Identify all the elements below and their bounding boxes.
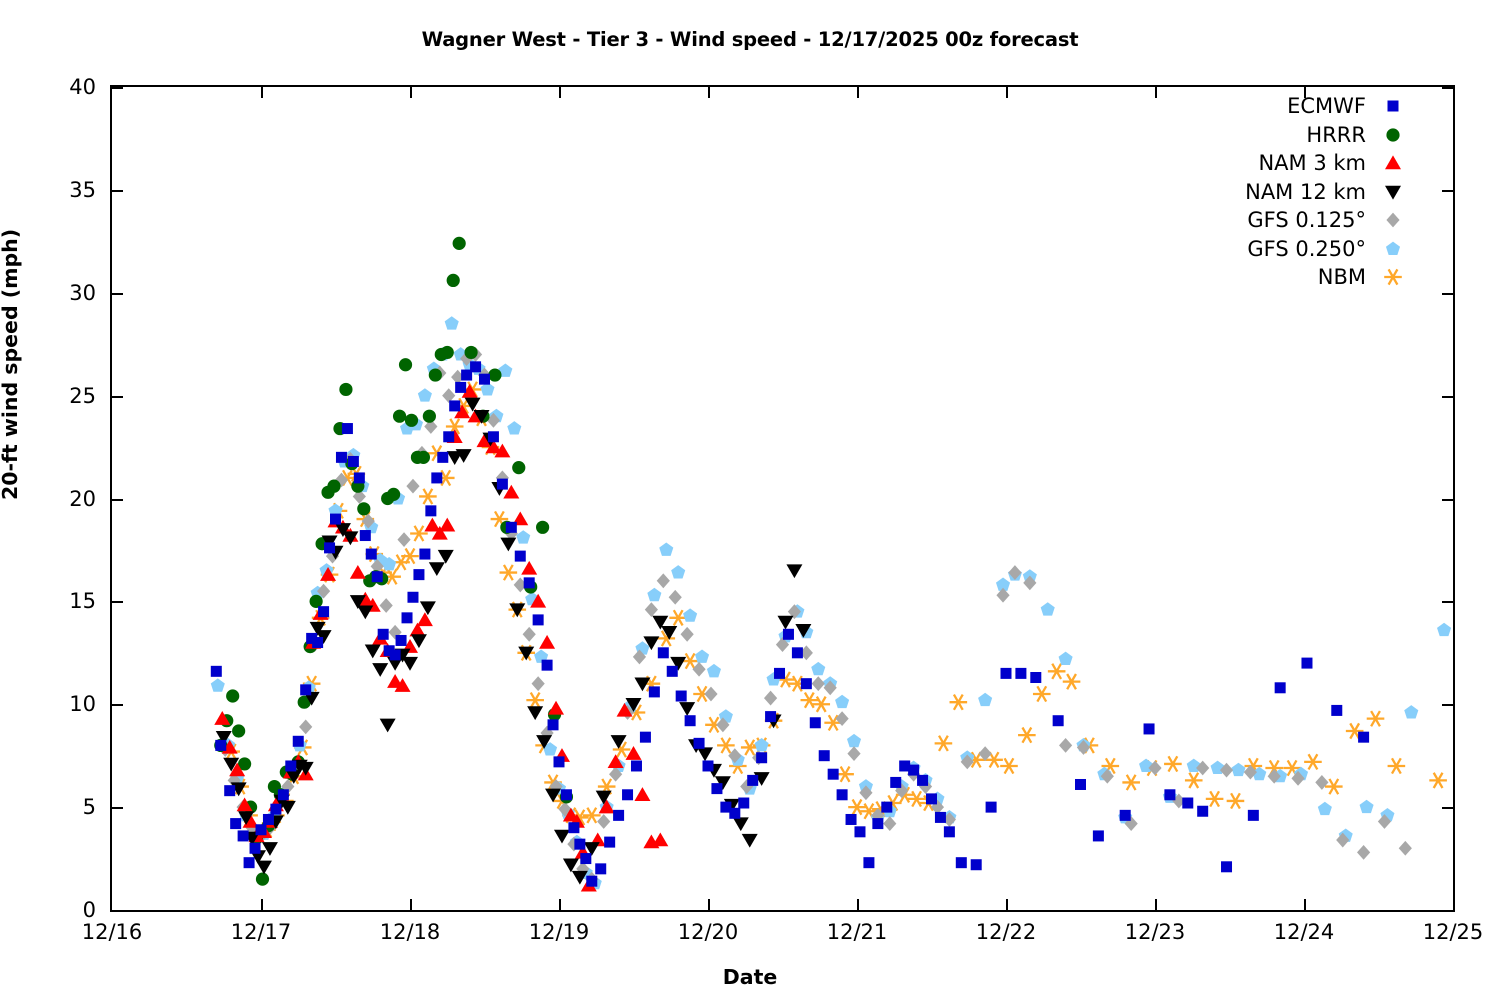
legend-marker-pentagon-icon [1376, 236, 1410, 262]
x-axis-title: Date [0, 965, 1500, 989]
legend-marker-triangle-up-icon [1376, 150, 1410, 176]
data-point [848, 800, 866, 815]
data-point [1122, 775, 1140, 790]
data-point [378, 629, 389, 640]
data-point [419, 549, 430, 560]
data-point [765, 711, 776, 722]
data-point [1388, 758, 1406, 773]
data-point [667, 666, 678, 677]
data-point [256, 873, 269, 886]
x-axis-tick-label: 12/23 [1125, 920, 1186, 944]
data-point [226, 689, 239, 702]
y-axis-tick-label: 5 [26, 795, 96, 819]
data-point [774, 668, 785, 679]
data-point [711, 783, 722, 794]
data-point [324, 542, 335, 553]
y-axis-tick-right [1442, 293, 1453, 295]
data-point [1018, 727, 1036, 742]
data-point [828, 769, 839, 780]
data-point [819, 750, 830, 761]
data-point [542, 660, 553, 671]
data-point [548, 719, 559, 730]
data-point [336, 452, 347, 463]
data-point [479, 374, 490, 385]
data-point [679, 702, 695, 716]
y-axis-tick-label: 40 [26, 75, 96, 99]
data-point [1325, 779, 1343, 794]
data-point [1429, 773, 1447, 788]
data-point [285, 760, 296, 771]
data-point [561, 789, 572, 800]
data-point [926, 793, 937, 804]
data-point [703, 760, 714, 771]
data-point [372, 571, 383, 582]
y-axis-tick [112, 807, 123, 809]
data-point [1275, 682, 1286, 693]
data-point [671, 565, 685, 578]
data-point [837, 789, 848, 800]
data-point [396, 635, 407, 646]
data-point [507, 421, 521, 434]
chart-legend: ECMWFHRRRNAM 3 kmNAM 12 kmGFS 0.125°GFS … [1170, 92, 1410, 292]
data-point [935, 812, 946, 823]
data-point [595, 863, 606, 874]
data-point [640, 732, 651, 743]
legend-marker-triangle-down-icon [1376, 179, 1410, 205]
data-point [647, 588, 661, 601]
data-point [256, 824, 267, 835]
data-point [717, 738, 735, 753]
data-point [342, 423, 353, 434]
data-point [1318, 802, 1332, 815]
data-point [676, 691, 687, 702]
data-point [733, 817, 749, 831]
data-point [327, 480, 340, 493]
data-point [1053, 715, 1064, 726]
data-point [357, 502, 370, 515]
data-point [604, 837, 615, 848]
data-point [417, 451, 430, 464]
data-point [956, 857, 967, 868]
x-axis-tick-top [261, 87, 263, 98]
data-point [742, 834, 758, 848]
data-point [908, 791, 926, 806]
data-point [683, 608, 697, 621]
y-axis-tick-right [1442, 704, 1453, 706]
data-point [580, 853, 591, 864]
data-point [1197, 806, 1208, 817]
data-point [516, 530, 530, 543]
y-axis-tick-label: 20 [26, 487, 96, 511]
legend-item-nam-3-km[interactable]: NAM 3 km [1170, 149, 1410, 178]
data-point [437, 452, 448, 463]
y-axis-tick-label: 25 [26, 384, 96, 408]
x-axis-tick-top [857, 87, 859, 98]
x-axis-tick-top [1155, 87, 1157, 98]
data-point [390, 649, 401, 660]
data-point [521, 561, 537, 575]
data-point [634, 787, 650, 801]
data-point [1120, 810, 1131, 821]
data-point [695, 650, 709, 663]
y-axis-tick-right [1442, 190, 1453, 192]
data-point [738, 798, 749, 809]
data-point [669, 610, 687, 625]
data-point [523, 627, 536, 642]
y-axis-tick-right [1442, 807, 1453, 809]
data-point [1059, 652, 1073, 665]
data-point [554, 830, 570, 844]
data-point [262, 842, 278, 856]
data-point [300, 684, 311, 695]
data-point [1182, 798, 1193, 809]
data-point [533, 614, 544, 625]
legend-item-ecmwf[interactable]: ECMWF [1170, 92, 1410, 121]
data-point [1063, 674, 1081, 689]
data-point [1030, 672, 1041, 683]
data-point [350, 565, 366, 579]
data-point [1360, 800, 1374, 813]
data-point [681, 627, 694, 642]
y-axis-title: 20-ft wind speed (mph) [0, 229, 22, 500]
data-point [613, 810, 624, 821]
legend-label: HRRR [1306, 123, 1376, 147]
y-axis-tick [112, 190, 123, 192]
data-point [741, 740, 759, 755]
y-axis-tick-right [1442, 601, 1453, 603]
legend-item-hrrr[interactable]: HRRR [1170, 121, 1410, 150]
x-axis-tick-top [1006, 87, 1008, 98]
data-point [512, 461, 525, 474]
data-point [847, 734, 861, 747]
data-point [729, 808, 740, 819]
data-point [1048, 664, 1066, 679]
y-axis-tick [112, 601, 123, 603]
y-axis-tick [112, 704, 123, 706]
data-point [425, 505, 436, 516]
data-point [397, 532, 410, 547]
data-point [438, 550, 454, 564]
data-point [1221, 861, 1232, 872]
data-point [423, 410, 436, 423]
data-point [515, 551, 526, 562]
data-point [256, 861, 272, 875]
data-point [406, 479, 419, 494]
data-point [554, 756, 565, 767]
data-point [1144, 723, 1155, 734]
x-axis-tick-label: 12/19 [529, 920, 590, 944]
data-point [278, 789, 289, 800]
data-point [563, 859, 579, 873]
x-axis-tick [559, 899, 561, 910]
data-point [1301, 658, 1312, 669]
data-point [1404, 705, 1418, 718]
data-point [669, 590, 682, 605]
data-point [360, 530, 371, 541]
data-point [747, 775, 758, 786]
data-point [244, 857, 255, 868]
data-point [836, 767, 854, 782]
data-point [883, 816, 896, 831]
data-point [429, 562, 445, 576]
data-point [1185, 773, 1203, 788]
data-point [402, 657, 418, 671]
data-point [978, 693, 992, 706]
data-point [697, 747, 713, 761]
legend-label: NAM 12 km [1245, 180, 1376, 204]
y-axis-tick-right [1442, 396, 1453, 398]
data-point [755, 738, 769, 751]
x-axis-tick-label: 12/17 [231, 920, 292, 944]
data-point [230, 818, 241, 829]
data-point [524, 577, 535, 588]
data-point [1164, 789, 1175, 800]
data-point [685, 715, 696, 726]
data-point [418, 388, 432, 401]
x-axis-tick [857, 899, 859, 910]
data-point [692, 662, 705, 677]
data-point [950, 695, 968, 710]
y-axis-tick-label: 15 [26, 589, 96, 613]
data-point [357, 605, 373, 619]
data-point [649, 686, 660, 697]
x-axis-tick-label: 12/22 [976, 920, 1037, 944]
data-point [453, 237, 466, 250]
x-axis-tick-top [559, 87, 561, 98]
data-point [339, 383, 352, 396]
data-point [1041, 602, 1055, 615]
data-point [464, 346, 477, 359]
y-axis-tick [112, 293, 123, 295]
data-point [1059, 738, 1072, 753]
data-point [847, 746, 860, 761]
x-axis-tick [1304, 899, 1306, 910]
data-point [497, 479, 508, 490]
data-point [1093, 830, 1104, 841]
x-axis-tick [1006, 899, 1008, 910]
data-point [872, 818, 883, 829]
data-point [211, 678, 225, 691]
y-axis-tick [112, 87, 123, 89]
data-point [445, 316, 459, 329]
x-axis-tick-label: 12/20 [678, 920, 739, 944]
legend-marker-diamond-icon [1376, 207, 1410, 233]
data-point [232, 724, 245, 737]
data-point [449, 400, 460, 411]
data-point [704, 687, 717, 702]
data-point [526, 693, 544, 708]
data-point [500, 565, 518, 580]
data-point [548, 701, 564, 715]
data-point [380, 719, 396, 733]
legend-label: GFS 0.125° [1247, 208, 1376, 232]
legend-marker-circle-icon [1376, 122, 1410, 148]
data-point [783, 629, 794, 640]
data-point [1357, 845, 1370, 860]
data-point [470, 361, 481, 372]
data-point [348, 456, 359, 467]
data-point [330, 514, 341, 525]
x-axis-tick-label: 12/25 [1423, 920, 1484, 944]
y-axis-tick-right [1442, 87, 1453, 89]
data-point [986, 802, 997, 813]
legend-label: ECMWF [1287, 94, 1376, 118]
data-point [1358, 732, 1369, 743]
series-gfs-0-250 [211, 316, 1451, 889]
data-point [365, 645, 381, 659]
y-axis-tick-right [1442, 910, 1453, 912]
y-axis-tick-label: 0 [26, 898, 96, 922]
data-point [1033, 686, 1051, 701]
data-point [419, 489, 437, 504]
data-point [863, 857, 874, 868]
x-axis-tick-label: 12/24 [1274, 920, 1335, 944]
x-axis-tick [708, 899, 710, 910]
data-point [792, 647, 803, 658]
legend-label: GFS 0.250° [1247, 237, 1376, 261]
data-point [1015, 668, 1026, 679]
chart-root: Wagner West - Tier 3 - Wind speed - 12/1… [0, 0, 1500, 1000]
data-point [407, 592, 418, 603]
data-point [811, 662, 825, 675]
data-point [935, 736, 953, 751]
data-point [527, 706, 543, 720]
x-axis-tick-label: 12/16 [82, 920, 143, 944]
data-point [707, 664, 721, 677]
data-point [659, 543, 673, 556]
x-axis-tick [261, 899, 263, 910]
data-point [1367, 711, 1385, 726]
legend-item-nam-12-km[interactable]: NAM 12 km [1170, 178, 1410, 207]
data-point [420, 601, 436, 615]
data-point [1206, 791, 1224, 806]
data-point [410, 526, 428, 541]
legend-label: NBM [1318, 265, 1376, 289]
x-axis-tick-label: 12/18 [380, 920, 441, 944]
data-point [881, 802, 892, 813]
data-point [387, 488, 400, 501]
data-point [372, 663, 388, 677]
data-point [652, 832, 668, 846]
data-point [447, 274, 460, 287]
data-point [465, 398, 481, 412]
data-point [657, 573, 670, 588]
data-point [413, 569, 424, 580]
data-point [366, 549, 377, 560]
data-point [500, 538, 516, 552]
data-point [944, 826, 955, 837]
data-point [971, 859, 982, 870]
data-point [764, 691, 777, 706]
data-point [488, 431, 499, 442]
legend-item-nbm[interactable]: NBM [1170, 263, 1410, 292]
data-point [801, 678, 812, 689]
y-axis-tick [112, 396, 123, 398]
data-point [380, 598, 393, 613]
data-point [1331, 705, 1342, 716]
data-point [854, 826, 865, 837]
data-point [645, 602, 658, 617]
x-axis-tick-label: 12/21 [827, 920, 888, 944]
data-point [431, 472, 442, 483]
data-point [631, 760, 642, 771]
data-point [354, 472, 365, 483]
data-point [429, 368, 442, 381]
data-point [812, 697, 830, 712]
y-axis-tick-label: 10 [26, 692, 96, 716]
data-point [1231, 763, 1245, 776]
data-point [250, 843, 261, 854]
data-point [1437, 623, 1451, 636]
legend-item-gfs-0-250[interactable]: GFS 0.250° [1170, 235, 1410, 264]
data-point [835, 695, 849, 708]
legend-marker-asterisk-icon [1376, 264, 1410, 290]
data-point [694, 738, 705, 749]
data-point [455, 382, 466, 393]
data-point [224, 785, 235, 796]
data-point [238, 830, 249, 841]
chart-title: Wagner West - Tier 3 - Wind speed - 12/1… [0, 28, 1500, 51]
data-point [1075, 779, 1086, 790]
legend-label: NAM 3 km [1258, 151, 1376, 175]
data-point [908, 765, 919, 776]
data-point [786, 564, 802, 578]
data-point [402, 612, 413, 623]
data-point [211, 666, 222, 677]
data-point [399, 358, 412, 371]
data-point [536, 521, 549, 534]
data-point [312, 637, 323, 648]
data-point [574, 839, 585, 850]
data-point [1001, 668, 1012, 679]
data-point [318, 606, 329, 617]
data-point [439, 518, 455, 532]
data-point [568, 822, 579, 833]
x-axis-tick [1155, 899, 1157, 910]
legend-item-gfs-0-125[interactable]: GFS 0.125° [1170, 206, 1410, 235]
data-point [441, 346, 454, 359]
data-point [658, 647, 669, 658]
data-point [443, 431, 454, 442]
data-point [488, 368, 501, 381]
data-point [626, 746, 642, 760]
data-point [1227, 793, 1245, 808]
data-point [1248, 810, 1259, 821]
x-axis-tick [410, 899, 412, 910]
data-point [405, 414, 418, 427]
data-point [393, 410, 406, 423]
data-point [539, 635, 555, 649]
y-axis-tick [112, 499, 123, 501]
data-point [812, 676, 825, 691]
legend-marker-square-icon [1376, 93, 1410, 119]
data-point [1164, 756, 1182, 771]
data-point [1304, 754, 1322, 769]
data-point [310, 595, 323, 608]
data-point [846, 814, 857, 825]
data-point [801, 693, 819, 708]
data-point [506, 522, 517, 533]
y-axis-tick-right [1442, 499, 1453, 501]
data-point [622, 789, 633, 800]
data-point [810, 717, 821, 728]
x-axis-tick-top [410, 87, 412, 98]
data-point [777, 616, 793, 630]
y-axis-tick-label: 30 [26, 281, 96, 305]
y-axis-tick-label: 35 [26, 178, 96, 202]
data-point [890, 777, 901, 788]
data-point [299, 719, 312, 734]
